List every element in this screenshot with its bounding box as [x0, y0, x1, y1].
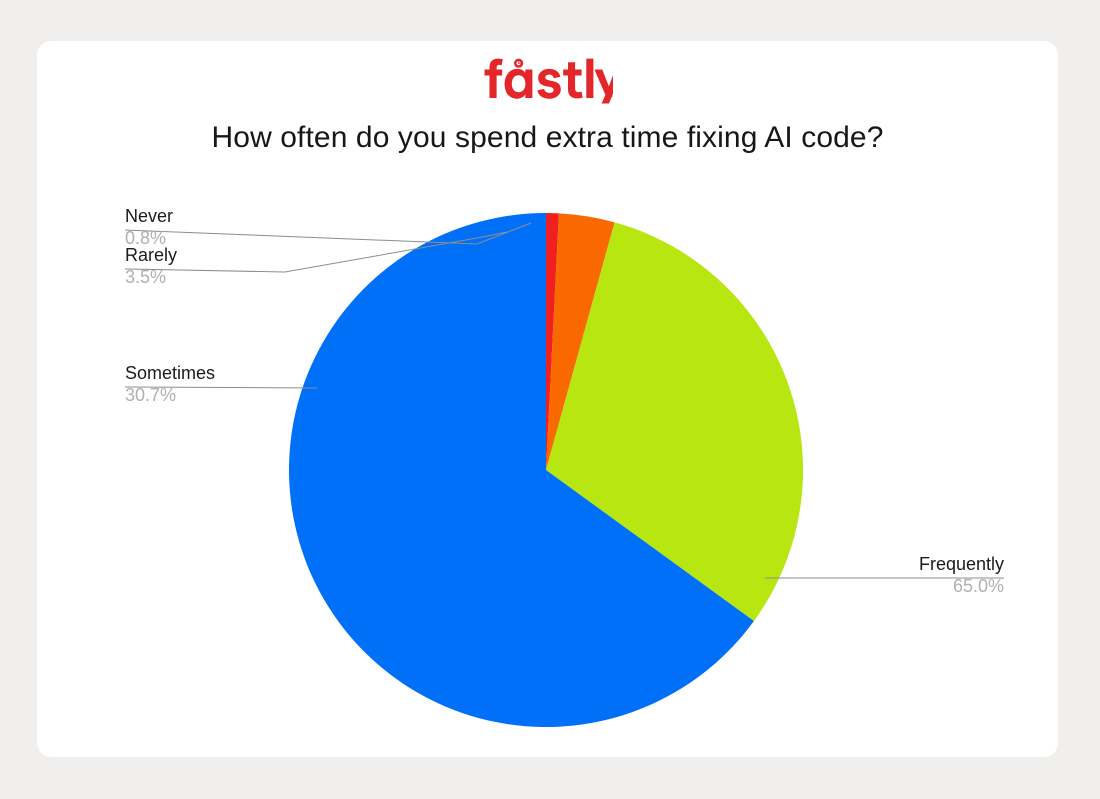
slice-label-frequently: Frequently: [919, 554, 1004, 574]
pie-slices: [289, 213, 803, 727]
slice-value-sometimes: 30.7%: [125, 385, 176, 405]
slice-label-rarely: Rarely: [125, 245, 177, 265]
chart-card: How often do you spend extra time fixing…: [37, 41, 1058, 757]
slice-label-sometimes: Sometimes: [125, 363, 215, 383]
pie-chart-svg: Never0.8%Rarely3.5%Sometimes30.7%Frequen…: [37, 41, 1058, 757]
pie-chart: Never0.8%Rarely3.5%Sometimes30.7%Frequen…: [37, 41, 1058, 757]
screenshot-root: How often do you spend extra time fixing…: [0, 0, 1100, 799]
slice-value-frequently: 65.0%: [953, 576, 1004, 596]
slice-value-rarely: 3.5%: [125, 267, 166, 287]
slice-label-never: Never: [125, 206, 173, 226]
